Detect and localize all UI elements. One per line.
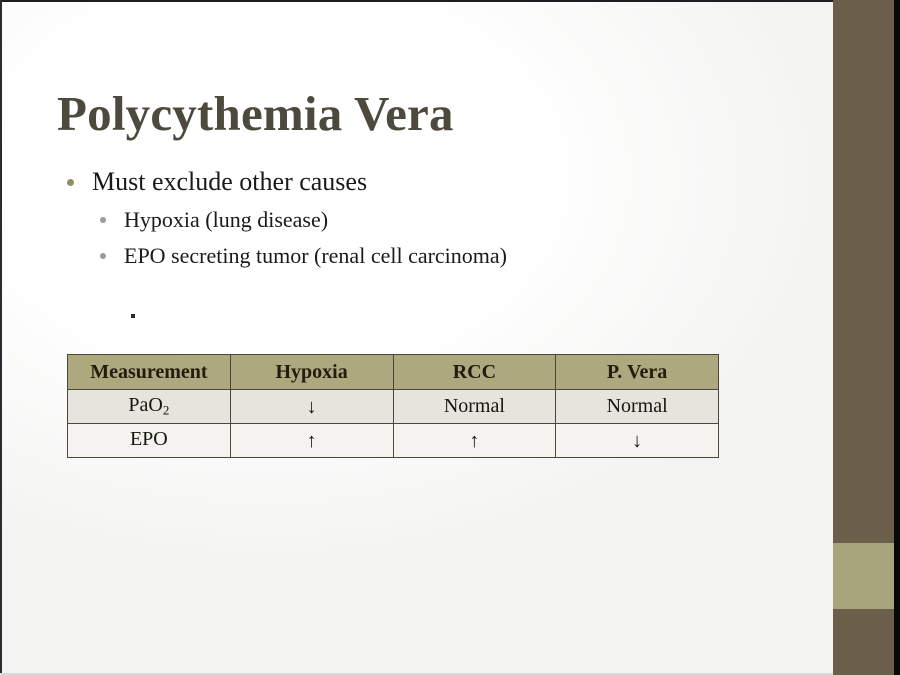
table-cell-row-label: EPO [68, 424, 231, 458]
slide-left-border [0, 0, 2, 675]
row-label-text: EPO [130, 428, 168, 450]
bullet-item-label: EPO secreting tumor (renal cell carcinom… [124, 243, 507, 268]
table-header-measurement: Measurement [68, 355, 231, 390]
page-title: Polycythemia Vera [57, 85, 454, 143]
bullet-item-primary: Must exclude other causes [62, 162, 802, 202]
table-cell-value: Normal [556, 390, 719, 424]
bullet-list: Must exclude other causes Hypoxia (lung … [62, 162, 802, 274]
comparison-table: Measurement Hypoxia RCC P. Vera PaO2 ↓ N… [67, 354, 719, 458]
bullet-item-label: Hypoxia (lung disease) [124, 207, 328, 232]
table-cell-value: ↓ [556, 424, 719, 458]
table-row: EPO ↑ ↑ ↓ [68, 424, 719, 458]
table-header-hypoxia: Hypoxia [230, 355, 393, 390]
bullet-item-label: Must exclude other causes [92, 167, 367, 196]
slide-top-border [0, 0, 900, 2]
table-cell-row-label: PaO2 [68, 390, 231, 424]
table-row: PaO2 ↓ Normal Normal [68, 390, 719, 424]
bullet-item-hypoxia: Hypoxia (lung disease) [62, 202, 802, 238]
bullet-dot-icon [67, 179, 74, 186]
table-cell-value: ↑ [393, 424, 556, 458]
table-header-row: Measurement Hypoxia RCC P. Vera [68, 355, 719, 390]
bullet-item-epo-tumor: EPO secreting tumor (renal cell carcinom… [62, 238, 802, 274]
table-header-rcc: RCC [393, 355, 556, 390]
bullet-dot-icon [100, 253, 106, 259]
table-cell-value: Normal [393, 390, 556, 424]
slide-right-border [894, 0, 900, 675]
bullet-dot-icon [100, 217, 106, 223]
row-label-text: PaO [128, 394, 162, 416]
row-label-subscript: 2 [163, 403, 170, 418]
table-cell-value: ↑ [230, 424, 393, 458]
table-header-p-vera: P. Vera [556, 355, 719, 390]
stray-period-mark [131, 314, 135, 318]
table-cell-value: ↓ [230, 390, 393, 424]
presentation-slide: Polycythemia Vera Must exclude other cau… [0, 0, 900, 675]
decorative-sidebar-accent-block [833, 543, 894, 609]
